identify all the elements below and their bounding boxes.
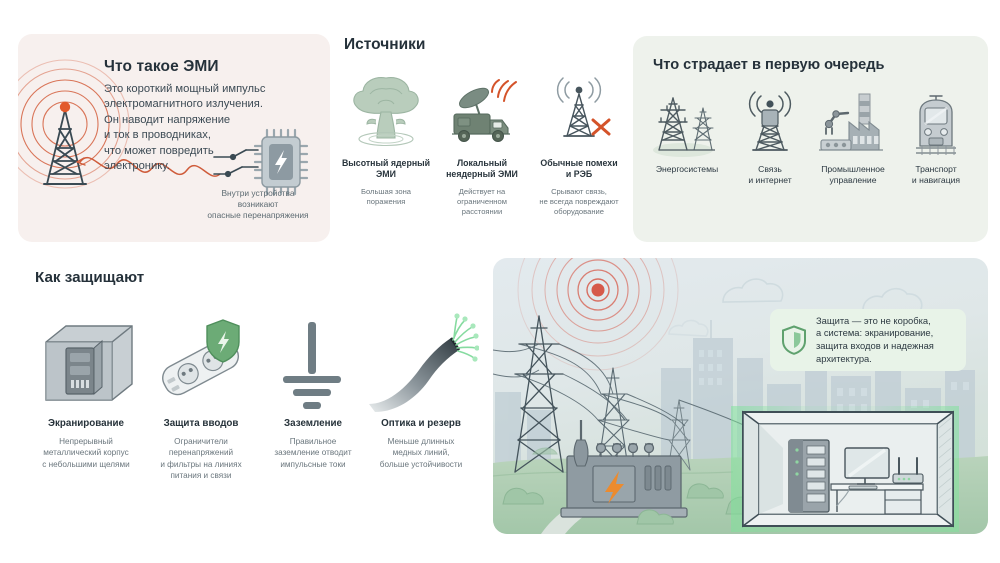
protect-item-shielding: Экранирование Непрерывный металлический … [28, 308, 144, 470]
burst-core [592, 284, 605, 297]
victim-item-industry: Промышленное управление [813, 88, 893, 186]
radar-truck-icon [436, 68, 528, 152]
protect-label: Оптика и резерв [363, 418, 479, 429]
victim-item-comms: Связь и интернет [730, 88, 810, 186]
scene-callout: Защита — это не коробка, а система: экра… [770, 309, 966, 371]
power-pylons-icon [647, 88, 727, 160]
emission-arcs [492, 80, 516, 101]
radio-tower-icon [44, 110, 86, 184]
shielded-enclosure-icon [28, 308, 144, 416]
source-label: Высотный ядерный ЭМИ [340, 158, 432, 181]
emp-burst-icon [518, 258, 678, 370]
panel-what-suffers: Что страдает в первую очередь [633, 36, 988, 242]
protect-item-grounding: Заземление Правильное заземление отводит… [255, 308, 371, 470]
source-label: Локальный неядерный ЭМИ [436, 158, 528, 181]
shielded-server-room [743, 412, 953, 526]
victim-label: Энергосистемы [647, 164, 727, 175]
section-protect: Как защищают Экранир [18, 260, 484, 500]
source-item-jamming: Обычные помехи и РЭБ Срывают связь, не в… [533, 68, 625, 217]
victim-item-transport: Транспорт и навигация [896, 88, 976, 186]
panel-scene-illustration: Защита — это не коробка, а система: экра… [493, 258, 988, 534]
emp-source-dot [60, 102, 70, 112]
source-item-nonnuclear: Локальный неядерный ЭМИ Действует на огр… [436, 68, 528, 217]
protect-desc: Меньше длинных медных линий, больше усто… [363, 436, 479, 470]
panel-what-is-emp: Что такое ЭМИ Это короткий мощный импуль… [18, 34, 330, 242]
factory-robot-icon [813, 88, 893, 160]
protect-label: Защита вводов [143, 418, 259, 429]
ground-symbol-icon [255, 308, 371, 416]
emp-device-caption: Внутри устройства возникают опасные пере… [194, 188, 322, 222]
protect-label: Заземление [255, 418, 371, 429]
victim-label: Транспорт и навигация [896, 164, 976, 186]
cell-tower-icon [730, 88, 810, 160]
victim-item-power: Энергосистемы [647, 88, 727, 175]
satellite-dish [457, 84, 492, 111]
page-title-emp: Что такое ЭМИ [104, 58, 219, 76]
section-title-protect: Как защищают [35, 269, 144, 286]
protect-item-fiber: Оптика и резерв Меньше длинных медных ли… [363, 308, 479, 470]
source-desc: Большая зона поражения [340, 187, 432, 207]
train-icon [896, 88, 976, 160]
source-label: Обычные помехи и РЭБ [533, 158, 625, 181]
fiber-optic-cable-icon [363, 308, 479, 416]
fiber-strands [453, 317, 476, 358]
section-title-sources: Источники [344, 36, 425, 54]
protect-desc: Правильное заземление отводит импульсные… [255, 436, 371, 470]
protect-label: Экранирование [28, 418, 144, 429]
callout-text: Защита — это не коробка, а система: экра… [816, 315, 934, 365]
protect-desc: Ограничители перенапряжений и фильтры на… [143, 436, 259, 482]
section-title-victims: Что страдает в первую очередь [653, 57, 885, 73]
shield-check-icon [781, 325, 807, 355]
source-item-nuclear: Высотный ядерный ЭМИ Большая зона пораже… [340, 68, 432, 207]
scene-artwork [493, 258, 988, 534]
victim-label: Связь и интернет [730, 164, 810, 186]
emp-description: Это короткий мощный импульс электромагни… [104, 82, 316, 174]
source-desc: Действует на ограниченном расстоянии [436, 187, 528, 218]
surge-protector-icon [143, 308, 259, 416]
protect-desc: Непрерывный металлический корпус с небол… [28, 436, 144, 470]
nuclear-mushroom-cloud-icon [340, 68, 432, 152]
victim-label: Промышленное управление [813, 164, 893, 186]
infographic-root: Что такое ЭМИ Это короткий мощный импуль… [0, 0, 1000, 563]
jammed-antenna-icon [533, 68, 625, 152]
source-desc: Срывают связь, не всегда повреждают обор… [533, 187, 625, 218]
section-sources: Источники Высотный ядерный ЭМИ Бо [340, 36, 626, 242]
disruption-cross-icon [593, 120, 609, 134]
protect-item-surge: Защита вводов Ограничители перенапряжени… [143, 308, 259, 482]
